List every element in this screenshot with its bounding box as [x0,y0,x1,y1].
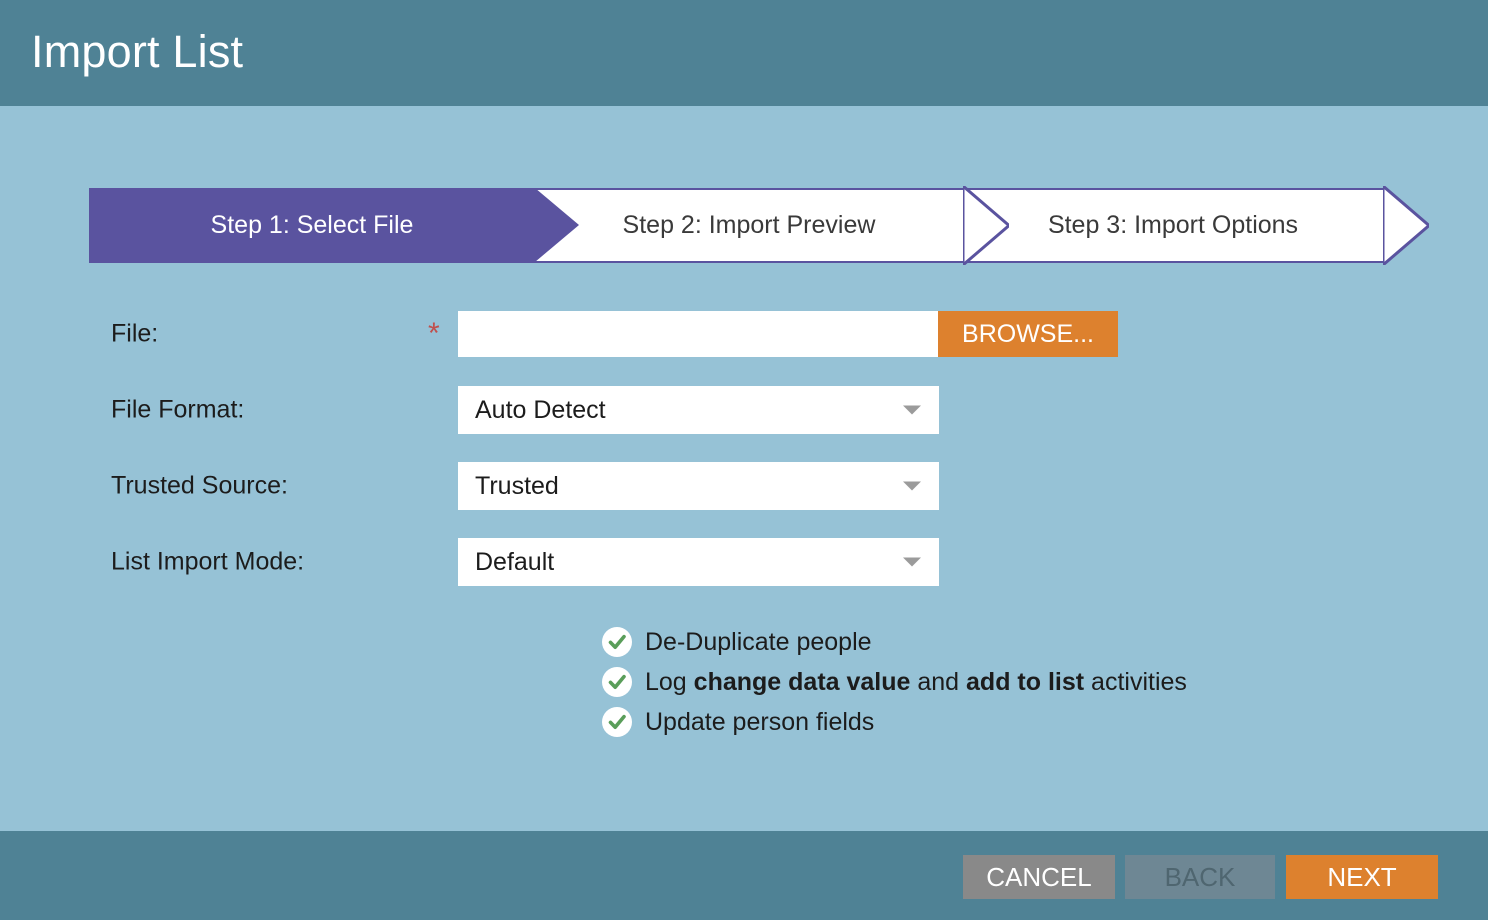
import-form: File: * BROWSE... File Format: Auto Dete… [0,296,1488,600]
form-row-file: File: * BROWSE... [0,296,1488,372]
file-input[interactable] [458,311,938,357]
chevron-down-icon [903,558,921,567]
form-row-trusted-source: Trusted Source: Trusted [0,448,1488,524]
check-circle-icon[interactable] [602,667,632,697]
form-row-list-import-mode: List Import Mode: Default [0,524,1488,600]
option-row[interactable]: Update person fields [602,702,1402,742]
trusted-source-value: Trusted [458,472,559,501]
trusted-source-label: Trusted Source: [111,472,288,501]
page-title: Import List [31,24,243,80]
stepper: Step 1: Select File Step 2: Import Previ… [89,188,1383,263]
file-format-value: Auto Detect [458,396,606,425]
file-label: File: [111,320,158,349]
option-label: De-Duplicate people [645,628,872,657]
list-import-mode-value: Default [458,548,554,577]
file-format-label: File Format: [111,396,244,425]
app-footer: CANCEL BACK NEXT [0,831,1488,920]
check-circle-icon[interactable] [602,627,632,657]
trusted-source-select[interactable]: Trusted [458,462,939,510]
browse-button[interactable]: BROWSE... [938,311,1118,357]
check-circle-icon[interactable] [602,707,632,737]
import-options-list: De-Duplicate peopleLog change data value… [602,622,1402,742]
step-2-import-preview[interactable]: Step 2: Import Preview [535,188,963,263]
option-row[interactable]: Log change data value and add to list ac… [602,662,1402,702]
cancel-button[interactable]: CANCEL [963,855,1115,899]
list-import-mode-select[interactable]: Default [458,538,939,586]
step-2-label: Step 2: Import Preview [623,211,876,240]
option-row[interactable]: De-Duplicate people [602,622,1402,662]
file-format-select[interactable]: Auto Detect [458,386,939,434]
step-1-select-file[interactable]: Step 1: Select File [89,188,535,263]
step-3-label: Step 3: Import Options [1048,211,1298,240]
content-area: Step 1: Select File Step 2: Import Previ… [0,106,1488,831]
list-import-mode-label: List Import Mode: [111,548,304,577]
back-button: BACK [1125,855,1275,899]
step-1-label: Step 1: Select File [211,211,414,240]
form-row-file-format: File Format: Auto Detect [0,372,1488,448]
next-button[interactable]: NEXT [1286,855,1438,899]
stepper-end-arrow-icon [1383,186,1429,265]
chevron-down-icon [903,406,921,415]
chevron-down-icon [903,482,921,491]
app-header: Import List [0,0,1488,106]
required-asterisk-icon: * [428,319,440,349]
step-3-import-options[interactable]: Step 3: Import Options [963,188,1383,263]
option-label: Update person fields [645,708,874,737]
option-label: Log change data value and add to list ac… [645,668,1187,697]
